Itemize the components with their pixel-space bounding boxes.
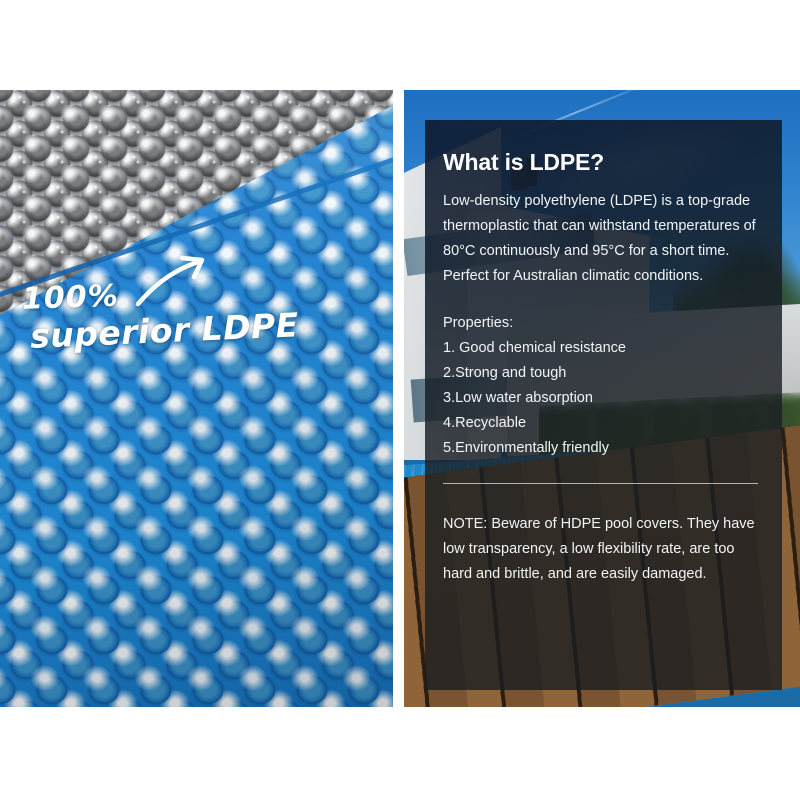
section-divider [443, 483, 758, 484]
card-intro-paragraph: Low-density polyethylene (LDPE) is a top… [443, 189, 760, 289]
list-item: 4.Recyclable [443, 411, 760, 436]
list-item: 2.Strong and tough [443, 361, 760, 386]
list-item: 3.Low water absorption [443, 386, 760, 411]
poster-canvas: 100% superior LDPE [0, 0, 800, 800]
note-block: NOTE: Beware of HDPE pool covers. They h… [443, 512, 760, 587]
list-item: 1. Good chemical resistance [443, 336, 760, 361]
right-info-panel: What is LDPE? Low-density polyethylene (… [404, 90, 800, 707]
card-title: What is LDPE? [443, 150, 760, 175]
note-text: NOTE: Beware of HDPE pool covers. They h… [443, 512, 760, 587]
list-item: 5.Environmentally friendly [443, 436, 760, 461]
left-texture-panel: 100% superior LDPE [0, 90, 393, 707]
ldpe-info-card: What is LDPE? Low-density polyethylene (… [425, 120, 782, 690]
properties-heading: Properties: [443, 311, 760, 336]
properties-list: 1. Good chemical resistance 2.Strong and… [443, 336, 760, 461]
